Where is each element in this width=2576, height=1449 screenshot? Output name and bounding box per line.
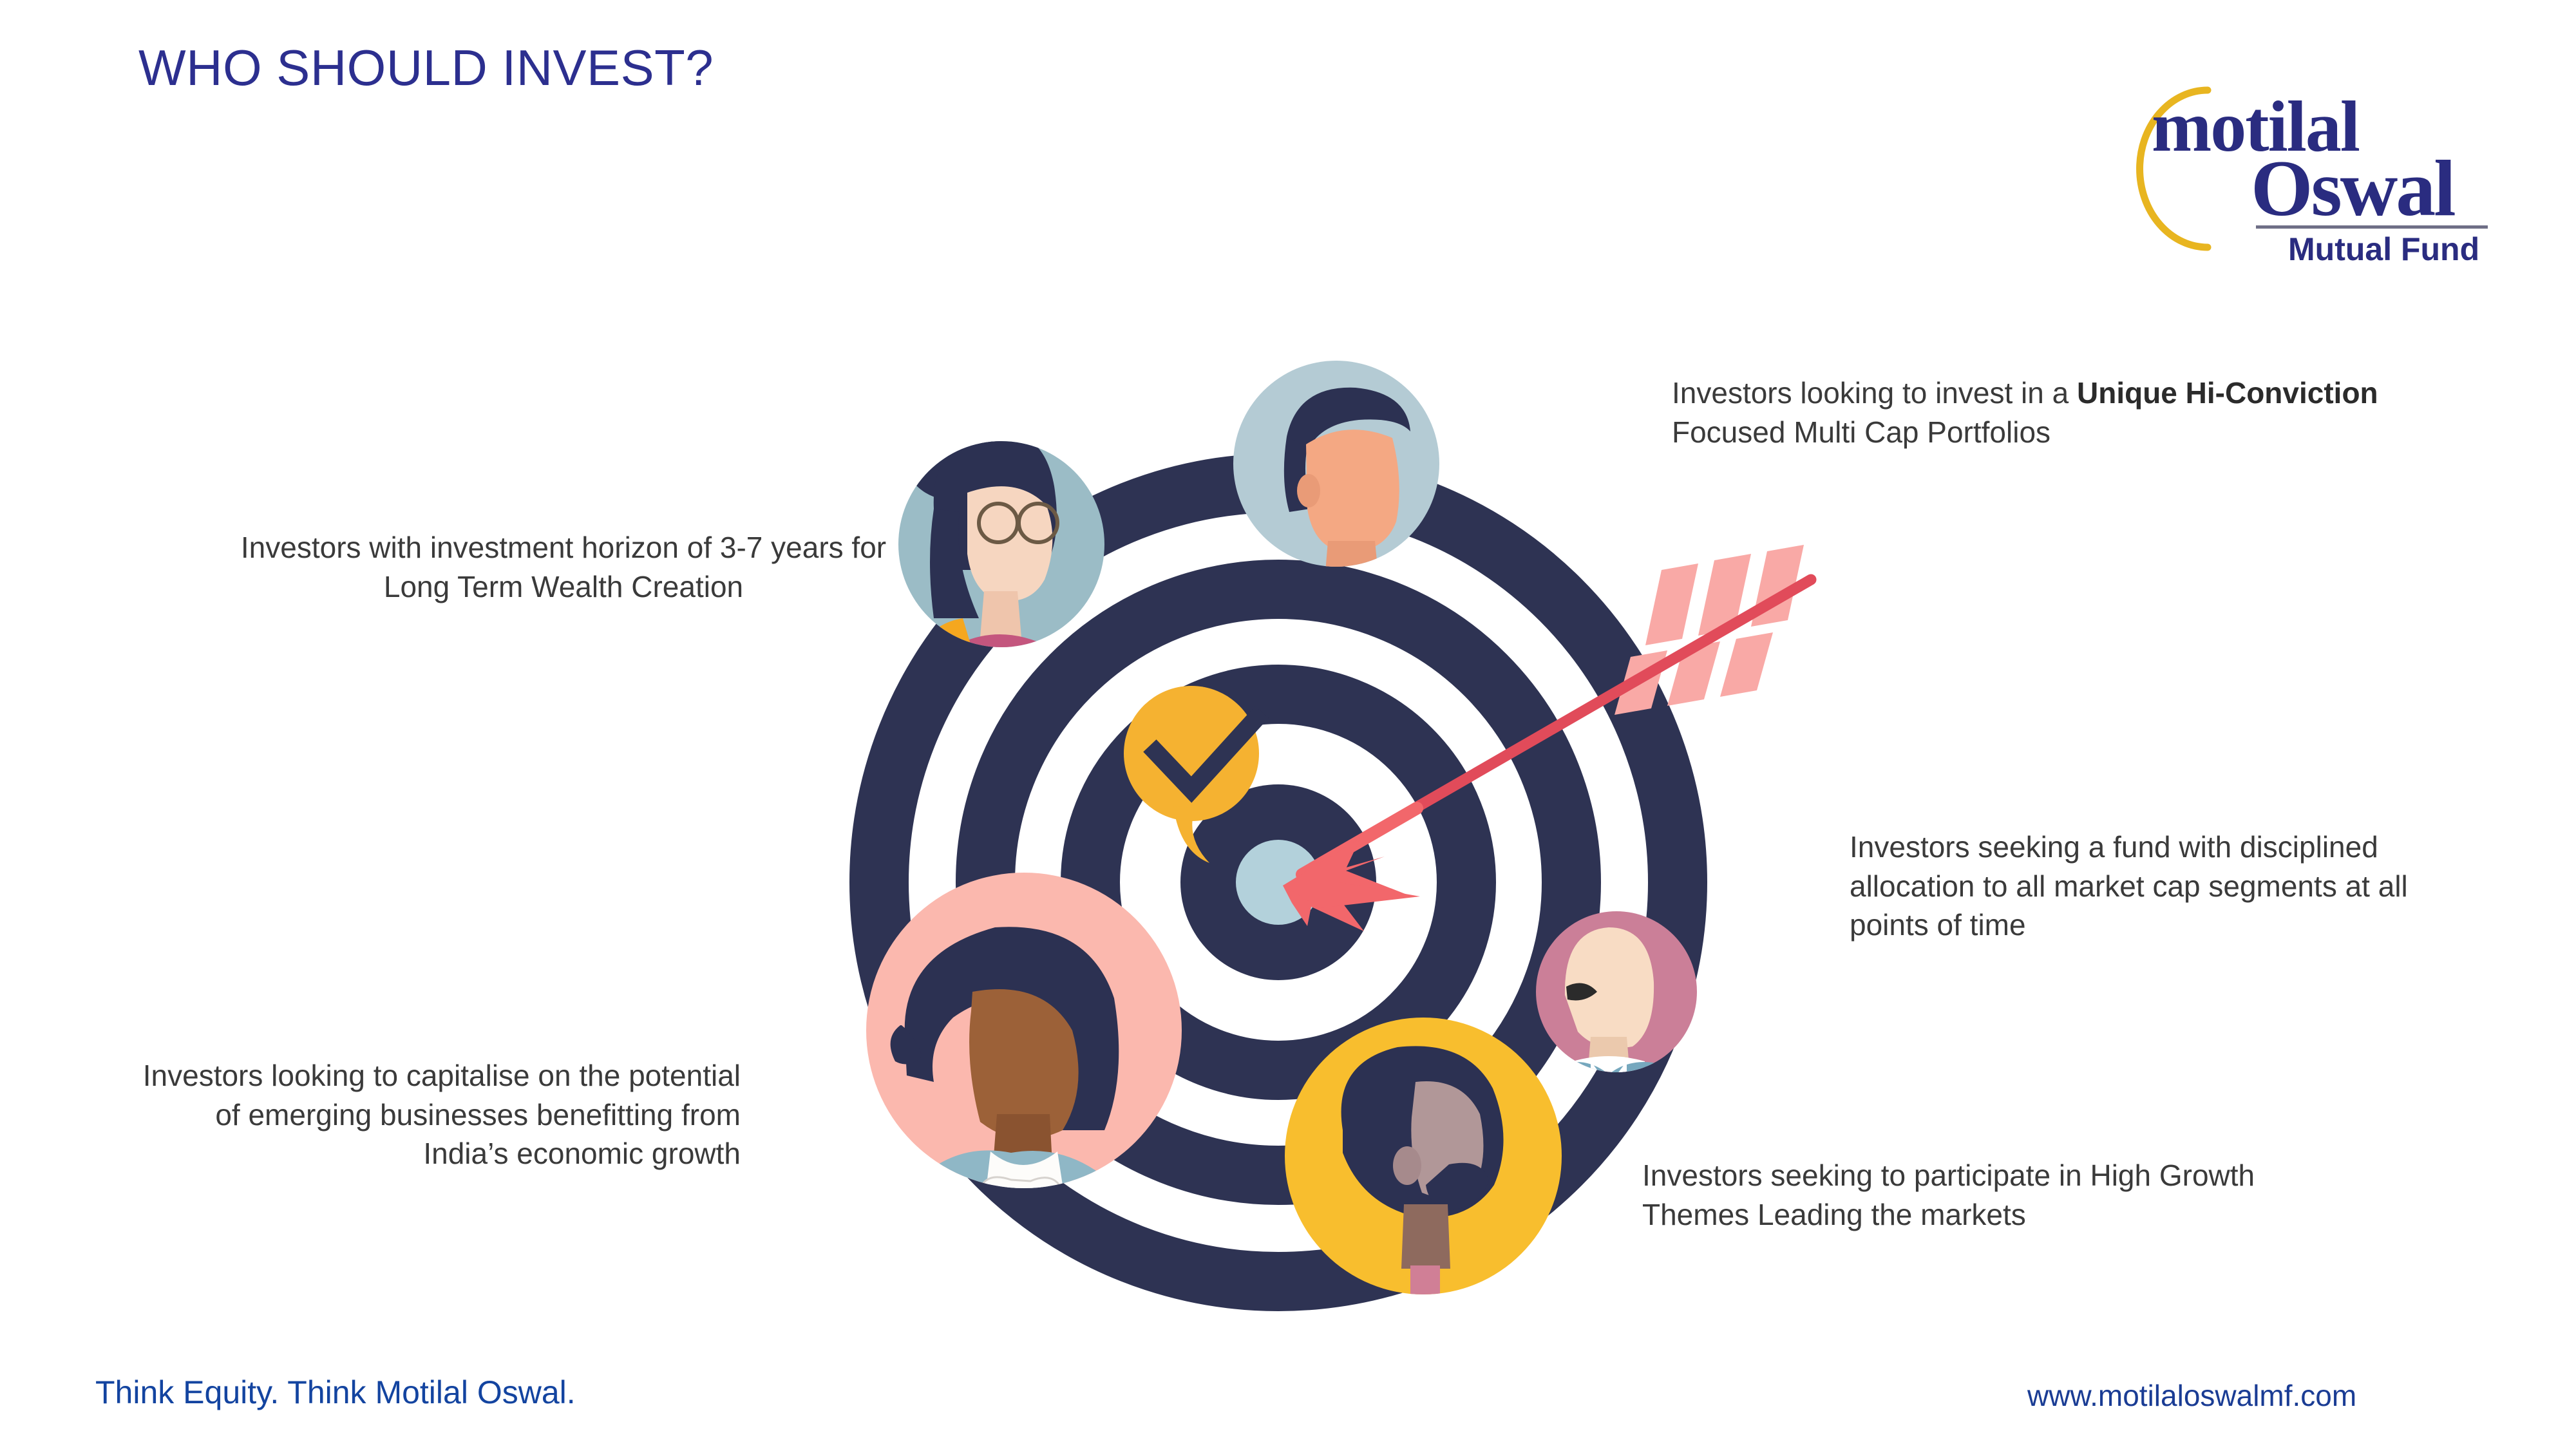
- svg-text:Mutual Fund: Mutual Fund: [2288, 231, 2479, 265]
- callout-emerging-businesses: Investors looking to capitalise on the p…: [129, 1056, 741, 1173]
- footer-url[interactable]: www.motilaloswalmf.com: [2027, 1378, 2356, 1413]
- page-title: WHO SHOULD INVEST?: [138, 39, 714, 97]
- slide-canvas: WHO SHOULD INVEST? motilal Oswal Mutual …: [0, 0, 2576, 1449]
- callout-text-emphasis: Unique Hi-Conviction: [2077, 376, 2378, 410]
- callout-disciplined-allocation: Investors seeking a fund with discipline…: [1850, 828, 2429, 945]
- motilal-oswal-logo: motilal Oswal Mutual Fund: [2090, 72, 2502, 265]
- footer-tagline: Think Equity. Think Motilal Oswal.: [95, 1374, 576, 1411]
- svg-text:Oswal: Oswal: [2251, 144, 2455, 232]
- target-illustration: [741, 348, 1900, 1352]
